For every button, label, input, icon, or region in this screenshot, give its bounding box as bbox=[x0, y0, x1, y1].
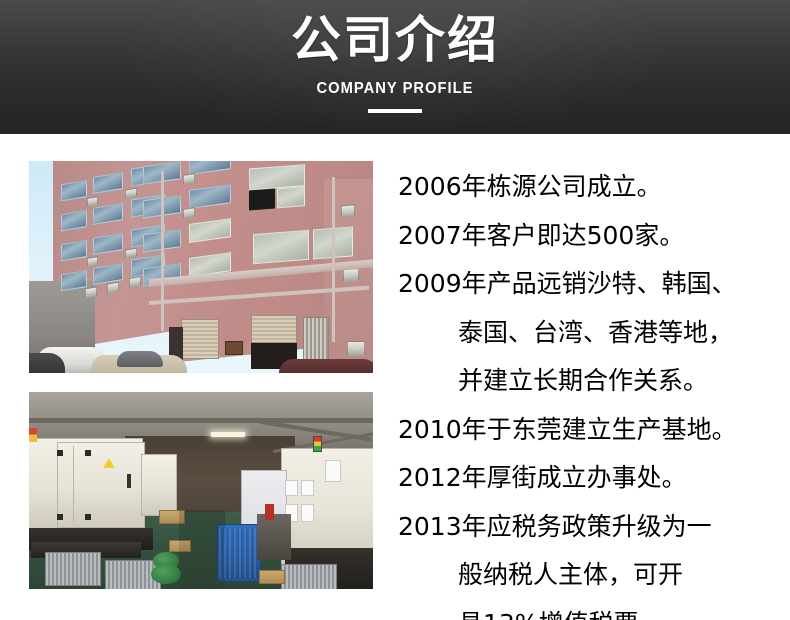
posted-sheet-4 bbox=[301, 504, 314, 522]
page-subtitle: COMPANY PROFILE bbox=[32, 79, 759, 99]
metal-parts-tray-3 bbox=[281, 564, 337, 589]
factory-building-photo bbox=[29, 161, 373, 373]
company-profile-page: 公司介绍 COMPANY PROFILE bbox=[0, 0, 790, 620]
car-red bbox=[279, 359, 373, 373]
machine-handle bbox=[127, 474, 131, 488]
red-equipment bbox=[265, 504, 274, 520]
car-grey bbox=[117, 351, 163, 367]
profile-line: 2013年应税务政策升级为一 bbox=[398, 503, 774, 552]
profile-line: 2006年栋源公司成立。 bbox=[398, 163, 774, 212]
profile-line: 般纳税人主体，可开 bbox=[398, 551, 774, 600]
profile-line: 具13%增值税票。 bbox=[398, 600, 774, 620]
roller-shutter-left bbox=[181, 319, 219, 359]
profile-line: 并建立长期合作关系。 bbox=[398, 357, 774, 406]
work-table bbox=[257, 514, 291, 560]
ceiling-beam-1 bbox=[29, 418, 373, 423]
cnc-machine-left-3 bbox=[141, 454, 177, 516]
aisle-shadow bbox=[179, 510, 225, 589]
profile-line: 泰国、台湾、香港等地， bbox=[398, 309, 774, 358]
header-banner: 公司介绍 COMPANY PROFILE bbox=[0, 0, 790, 134]
clipboard-sheet bbox=[325, 460, 341, 482]
warning-triangle-icon bbox=[103, 458, 115, 468]
downpipe-left bbox=[161, 171, 164, 331]
posted-sheet-2 bbox=[301, 480, 314, 496]
title-underline-rule bbox=[368, 109, 422, 113]
profile-line: 2010年于东莞建立生产基地。 bbox=[398, 406, 774, 455]
profile-line: 2012年厚街成立办事处。 bbox=[398, 454, 774, 503]
posted-sheet-1 bbox=[285, 480, 298, 496]
page-title: 公司介绍 bbox=[0, 9, 790, 71]
machine-latch-2 bbox=[57, 514, 63, 520]
machine-latch-4 bbox=[85, 514, 91, 520]
company-profile-text: 2006年栋源公司成立。 2007年客户即达500家。 2009年产品远销沙特、… bbox=[398, 163, 774, 620]
profile-line: 2007年客户即达500家。 bbox=[398, 212, 774, 261]
machine-latch-1 bbox=[57, 450, 63, 456]
factory-workshop-photo bbox=[29, 392, 373, 589]
ac-unit-ground bbox=[347, 341, 365, 356]
green-tub-2 bbox=[151, 564, 181, 584]
status-light-left bbox=[29, 428, 37, 442]
ceiling-light bbox=[211, 432, 245, 437]
roller-shutter-right bbox=[251, 315, 297, 343]
metal-parts-tray-1 bbox=[45, 552, 101, 586]
signboard bbox=[225, 341, 243, 355]
machine-door-seam bbox=[73, 446, 74, 522]
blue-bin-ribs bbox=[219, 528, 259, 578]
window-bars bbox=[303, 317, 329, 365]
downpipe-right bbox=[332, 177, 335, 342]
signal-tower-light bbox=[313, 436, 322, 452]
cnc-machine-left-2 bbox=[57, 442, 145, 528]
machine-latch-3 bbox=[85, 450, 91, 456]
cardboard-box-3 bbox=[259, 570, 285, 584]
profile-line: 2009年产品远销沙特、韩国、 bbox=[398, 260, 774, 309]
